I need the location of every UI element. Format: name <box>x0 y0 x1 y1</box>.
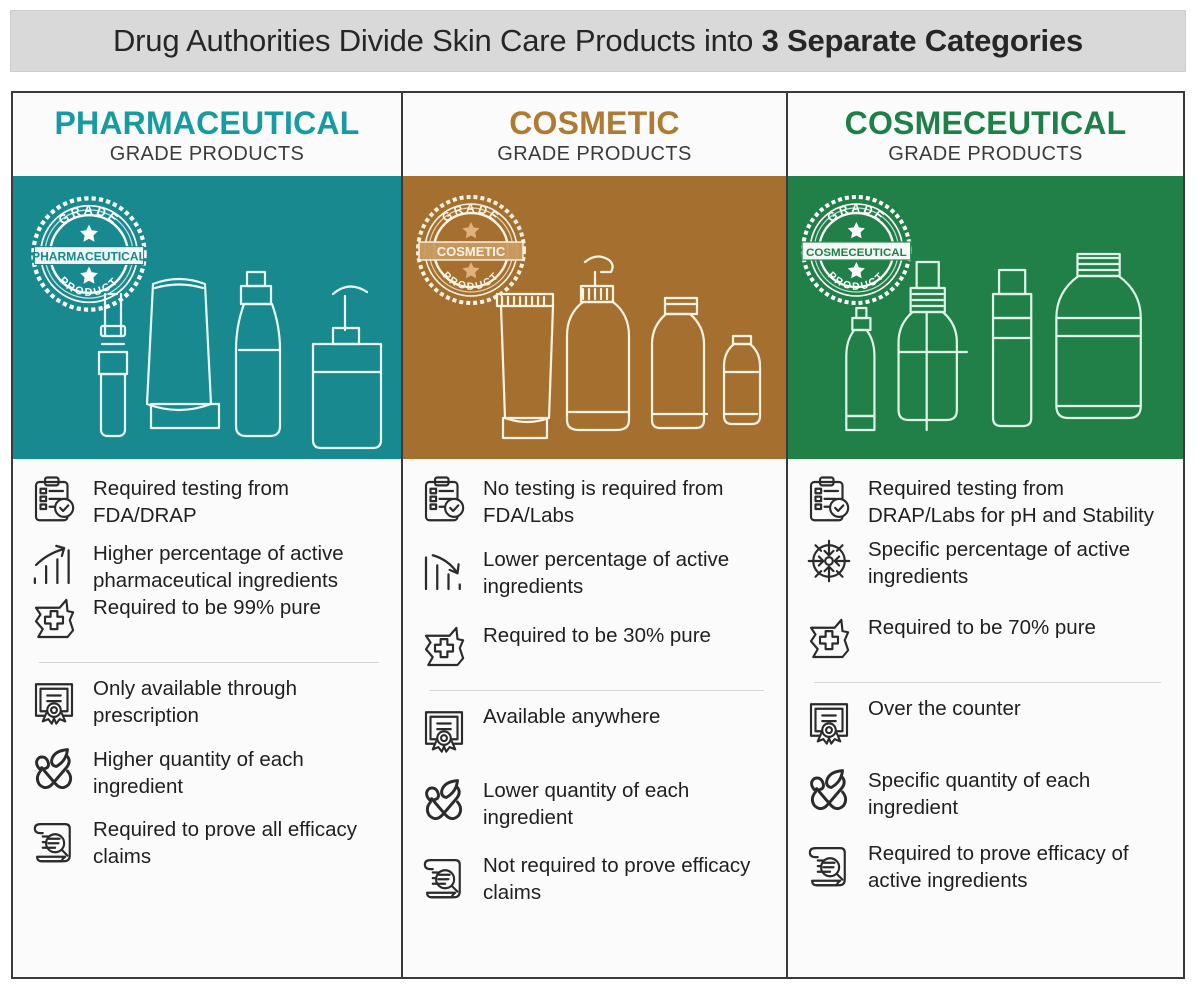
hero-image-cosmetic: COSMETIC GRADE PRODUCT <box>403 176 786 459</box>
feature-text: Only available through prescription <box>93 671 393 730</box>
feature-item: Lower percentage of active ingredients <box>415 542 778 601</box>
comparison-table: PHARMACEUTICAL GRADE PRODUCTS <box>11 91 1185 979</box>
feature-text: Required to prove all efficacy claims <box>93 812 393 871</box>
feature-item: Not required to prove efficacy claims <box>415 848 778 907</box>
feature-item: Higher quantity of each ingredient <box>25 742 393 801</box>
mortar-cross-icon <box>25 590 83 648</box>
column-header-cosmetic: COSMETIC GRADE PRODUCTS <box>403 93 786 176</box>
feature-item: Required to be 99% pure <box>25 590 393 648</box>
bar-chart-up-icon <box>25 536 83 594</box>
svg-text:GRADE: GRADE <box>824 201 888 225</box>
column-title: COSMECEUTICAL <box>845 107 1127 141</box>
column-header-pharmaceutical: PHARMACEUTICAL GRADE PRODUCTS <box>13 93 401 176</box>
certificate-seal-icon <box>415 699 473 757</box>
feature-item: Required to prove all efficacy claims <box>25 812 393 871</box>
grade-badge-cosmeceutical: COSMECEUTICAL GRADE PRODUCT <box>788 176 1183 459</box>
feature-text: Available anywhere <box>483 699 660 730</box>
feature-list-pharmaceutical: Required testing from FDA/DRAP Higher pe… <box>13 459 401 977</box>
feature-text: Specific percentage of active ingredient… <box>868 532 1175 591</box>
leaf-seeds-icon <box>800 763 858 821</box>
hero-image-pharmaceutical: PHARMACEUTICAL GRADE PRODUCT <box>13 176 401 459</box>
page-title: Drug Authorities Divide Skin Care Produc… <box>113 23 1083 59</box>
column-cosmeceutical: COSMECEUTICAL GRADE PRODUCTS <box>788 93 1183 977</box>
hero-image-cosmeceutical: COSMECEUTICAL GRADE PRODUCT <box>788 176 1183 459</box>
column-pharmaceutical: PHARMACEUTICAL GRADE PRODUCTS <box>13 93 403 977</box>
svg-text:GRADE: GRADE <box>439 201 503 225</box>
mortar-cross-icon <box>800 610 858 668</box>
svg-text:GRADE: GRADE <box>56 203 123 228</box>
page-title-normal: Drug Authorities Divide Skin Care Produc… <box>113 23 762 58</box>
leaf-seeds-icon <box>415 773 473 831</box>
column-title: COSMETIC <box>509 107 680 141</box>
infographic-page: Drug Authorities Divide Skin Care Produc… <box>0 0 1196 992</box>
feature-item: Lower quantity of each ingredient <box>415 773 778 832</box>
scroll-magnifier-icon <box>415 848 473 906</box>
feature-text: Lower quantity of each ingredient <box>483 773 778 832</box>
feature-item: Available anywhere <box>415 699 778 757</box>
feature-text: Required testing from DRAP/Labs for pH a… <box>868 471 1175 530</box>
clipboard-check-icon <box>415 471 473 529</box>
column-cosmetic: COSMETIC GRADE PRODUCTS <box>403 93 788 977</box>
certificate-seal-icon <box>800 691 858 749</box>
target-crosshair-icon <box>800 532 858 590</box>
feature-item: Specific quantity of each ingredient <box>800 763 1175 822</box>
feature-text: Required to be 70% pure <box>868 610 1096 641</box>
feature-text: Lower percentage of active ingredients <box>483 542 778 601</box>
feature-item: Required testing from DRAP/Labs for pH a… <box>800 471 1175 530</box>
page-title-bold: 3 Separate Categories <box>762 23 1083 58</box>
certificate-seal-icon <box>25 671 83 729</box>
svg-text:PHARMACEUTICAL: PHARMACEUTICAL <box>32 249 146 263</box>
mortar-cross-icon <box>415 618 473 676</box>
divider <box>429 690 764 691</box>
header-bar: Drug Authorities Divide Skin Care Produc… <box>10 10 1186 72</box>
feature-item: Required to be 30% pure <box>415 618 778 676</box>
feature-text: Over the counter <box>868 691 1021 722</box>
feature-item: Required to be 70% pure <box>800 610 1175 668</box>
feature-text: Higher percentage of active pharmaceutic… <box>93 536 393 595</box>
feature-item: Required to prove efficacy of active ing… <box>800 836 1175 895</box>
feature-text: Not required to prove efficacy claims <box>483 848 778 907</box>
grade-badge-cosmetic: COSMETIC GRADE PRODUCT <box>403 176 786 459</box>
feature-text: No testing is required from FDA/Labs <box>483 471 778 530</box>
feature-item: No testing is required from FDA/Labs <box>415 471 778 530</box>
svg-text:COSMETIC: COSMETIC <box>437 244 506 259</box>
feature-text: Required to be 30% pure <box>483 618 711 649</box>
feature-item: Required testing from FDA/DRAP <box>25 471 393 530</box>
feature-item: Over the counter <box>800 691 1175 749</box>
feature-list-cosmeceutical: Required testing from DRAP/Labs for pH a… <box>788 459 1183 977</box>
feature-text: Higher quantity of each ingredient <box>93 742 393 801</box>
feature-text: Specific quantity of each ingredient <box>868 763 1175 822</box>
divider <box>814 682 1161 683</box>
clipboard-check-icon <box>800 471 858 529</box>
feature-list-cosmetic: No testing is required from FDA/Labs Low… <box>403 459 786 977</box>
column-subtitle: GRADE PRODUCTS <box>497 143 692 166</box>
grade-badge-pharmaceutical: PHARMACEUTICAL GRADE PRODUCT <box>13 176 401 459</box>
bar-chart-down-icon <box>415 542 473 600</box>
feature-text: Required to be 99% pure <box>93 590 321 621</box>
svg-text:COSMECEUTICAL: COSMECEUTICAL <box>806 247 907 259</box>
feature-text: Required to prove efficacy of active ing… <box>868 836 1175 895</box>
leaf-seeds-icon <box>25 742 83 800</box>
column-subtitle: GRADE PRODUCTS <box>110 143 305 166</box>
feature-item: Specific percentage of active ingredient… <box>800 532 1175 591</box>
divider <box>39 662 379 663</box>
scroll-magnifier-icon <box>800 836 858 894</box>
column-subtitle: GRADE PRODUCTS <box>888 143 1083 166</box>
feature-item: Only available through prescription <box>25 671 393 730</box>
column-title: PHARMACEUTICAL <box>54 107 359 141</box>
clipboard-check-icon <box>25 471 83 529</box>
feature-text: Required testing from FDA/DRAP <box>93 471 393 530</box>
feature-item: Higher percentage of active pharmaceutic… <box>25 536 393 595</box>
scroll-magnifier-icon <box>25 812 83 870</box>
column-header-cosmeceutical: COSMECEUTICAL GRADE PRODUCTS <box>788 93 1183 176</box>
